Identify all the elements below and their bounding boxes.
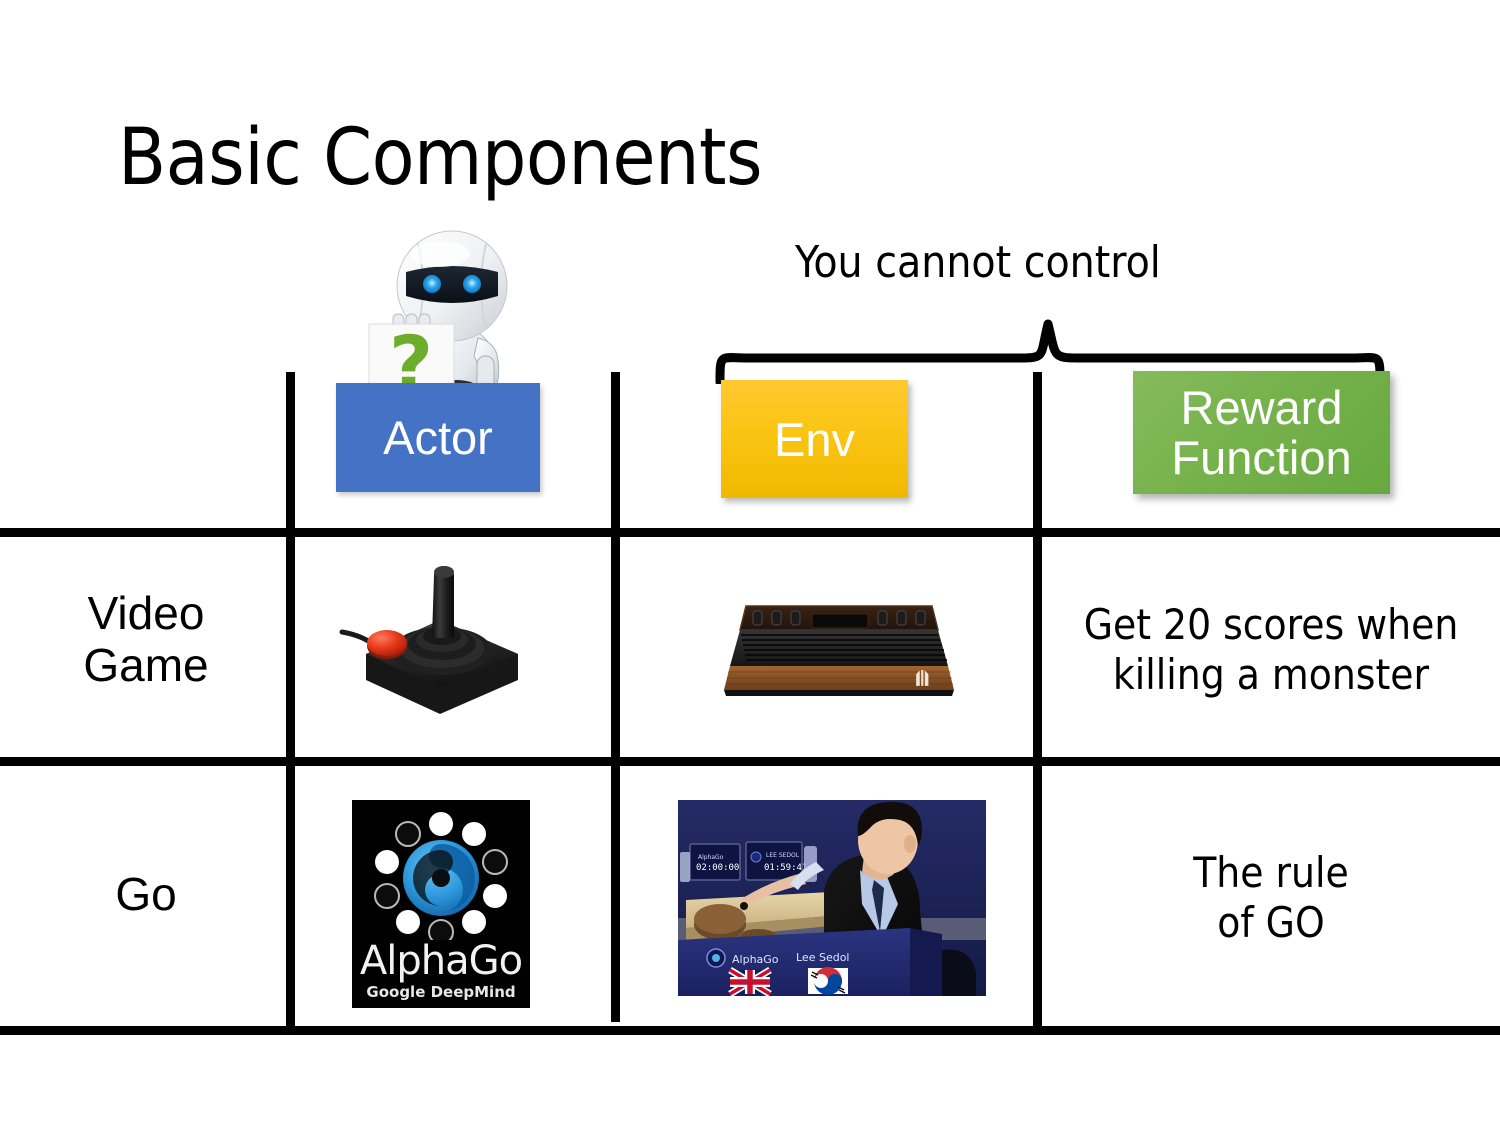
monitor-right-timer: 01:59:41 xyxy=(764,863,807,873)
alphago-subtitle: Google DeepMind xyxy=(352,983,530,1001)
reward-cell-go: The rule of GO xyxy=(1046,848,1496,947)
south-korea-flag-icon xyxy=(808,967,848,995)
alphago-wordmark: AlphaGo xyxy=(352,938,530,984)
alphago-logo-icon: AlphaGo Google DeepMind xyxy=(352,800,530,1008)
row-label-video-game: Video Game xyxy=(10,588,282,691)
env-label: Env xyxy=(774,412,855,467)
grid-line-horizontal-header xyxy=(0,528,1500,537)
reward-cell-line2: of GO xyxy=(1046,898,1496,948)
monitor-left-timer: 02:00:00 xyxy=(696,863,739,873)
actor-label-box[interactable]: Actor xyxy=(336,383,540,492)
grid-line-horizontal-row1 xyxy=(0,757,1500,766)
desk-label-alphago: AlphaGo xyxy=(732,953,779,966)
annotation-you-cannot-control: You cannot control xyxy=(795,237,1161,288)
atari-joystick-icon xyxy=(336,558,546,726)
reward-cell-video-game: Get 20 scores when killing a monster xyxy=(1046,600,1496,699)
env-label-box[interactable]: Env xyxy=(721,380,908,498)
actor-label: Actor xyxy=(383,410,493,465)
reward-label-line1: Reward xyxy=(1181,383,1343,433)
grid-line-vertical-2 xyxy=(611,372,620,1022)
grid-line-vertical-1 xyxy=(286,372,295,1030)
reward-label-line2: Function xyxy=(1171,433,1351,483)
monitor-right-label: LEE SEDOL xyxy=(766,852,800,859)
atari-2600-console-icon xyxy=(700,596,975,701)
desk-label-lee-sedol: Lee Sedol xyxy=(796,951,850,964)
uk-flag-icon xyxy=(730,970,770,994)
page-title: Basic Components xyxy=(118,118,762,200)
reward-cell-line2: killing a monster xyxy=(1046,650,1496,700)
row-label-line1: Video xyxy=(10,588,282,640)
slide-canvas: Basic Components You cannot control xyxy=(0,0,1500,1125)
grid-line-horizontal-bottom xyxy=(0,1026,1500,1035)
reward-cell-line1: Get 20 scores when xyxy=(1046,600,1496,650)
row-label-go: Go xyxy=(10,869,282,921)
row-label-line1: Go xyxy=(10,869,282,921)
reward-cell-line1: The rule xyxy=(1046,848,1496,898)
lee-sedol-match-photo: AlphaGo 02:00:00 LEE SEDOL 01:59:41 xyxy=(678,800,986,996)
row-label-line2: Game xyxy=(10,640,282,692)
alphago-swirl-icon xyxy=(352,800,530,940)
robot-with-question-sign-icon: ? xyxy=(356,228,536,400)
grid-line-vertical-3 xyxy=(1033,372,1042,1030)
reward-function-label-box[interactable]: Reward Function xyxy=(1133,371,1390,494)
monitor-left-label: AlphaGo xyxy=(698,854,724,861)
